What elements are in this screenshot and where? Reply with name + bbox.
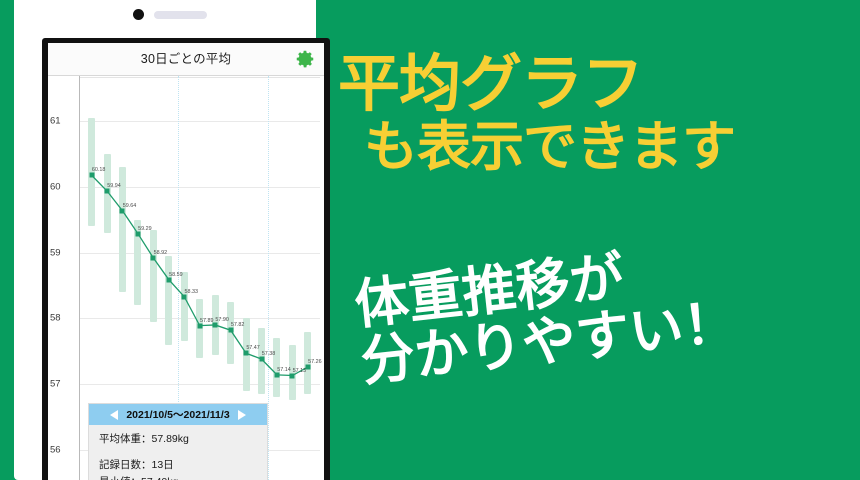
min-value: 最小値：57.40kg: [99, 474, 257, 480]
data-point-label: 57.82: [231, 322, 245, 328]
gear-icon[interactable]: [294, 48, 316, 70]
info-panel-body: 平均体重：57.89kg 記録日数：13日 最小値：57.40kg 最大値：58…: [89, 425, 267, 480]
average-weight-chart[interactable]: 616059585756 60.1859.9459.6459.2958.9258…: [48, 76, 324, 480]
average-weight-value: 平均体重：57.89kg: [99, 431, 257, 448]
data-point[interactable]: [182, 294, 187, 299]
y-axis: 616059585756: [48, 76, 79, 480]
info-panel: 2021/10/5〜2021/11/3 平均体重：57.89kg 記録日数：13…: [88, 403, 268, 480]
speaker-grill-icon: [154, 11, 207, 19]
data-point-label: 58.33: [185, 289, 199, 295]
y-axis-tick-label: 58: [50, 313, 61, 324]
data-point-label: 59.94: [107, 183, 121, 189]
data-point[interactable]: [213, 322, 218, 327]
camera-dot-icon: [133, 9, 144, 20]
data-point[interactable]: [290, 373, 295, 378]
data-point[interactable]: [89, 173, 94, 178]
data-point[interactable]: [197, 323, 202, 328]
data-point[interactable]: [120, 208, 125, 213]
y-axis-tick-label: 61: [50, 116, 61, 127]
data-point-label: 57.90: [215, 317, 229, 323]
data-point[interactable]: [228, 328, 233, 333]
promo-yellow-line1: 平均グラフ: [338, 52, 858, 115]
promo-yellow-text: 平均グラフ も表示できます: [338, 52, 858, 174]
data-point[interactable]: [305, 364, 310, 369]
data-point-label: 57.47: [246, 345, 260, 351]
promo-yellow-line2: も表示できます: [364, 119, 858, 174]
data-point[interactable]: [135, 231, 140, 236]
phone-mockup: 30日ごとの平均 616059585756 60.1859.9459.6459.…: [14, 0, 316, 480]
data-point[interactable]: [105, 189, 110, 194]
app-header: 30日ごとの平均: [48, 43, 324, 76]
data-point-label: 57.89: [200, 318, 214, 324]
promo-text-block: 平均グラフ も表示できます 体重推移が 分かりやすい！: [330, 0, 860, 480]
promo-white-text: 体重推移が 分かりやすい！: [352, 224, 860, 389]
chevron-right-icon[interactable]: [238, 410, 246, 420]
data-point-label: 58.59: [169, 272, 183, 278]
chevron-left-icon[interactable]: [110, 410, 118, 420]
screenshot-root: 30日ごとの平均 616059585756 60.1859.9459.6459.…: [0, 0, 860, 480]
data-point-label: 60.18: [92, 167, 106, 173]
y-axis-tick-label: 60: [50, 182, 61, 193]
y-axis-tick-label: 56: [50, 444, 61, 455]
y-axis-tick-label: 57: [50, 379, 61, 390]
data-point[interactable]: [259, 357, 264, 362]
record-days-value: 記録日数：13日: [99, 457, 257, 474]
phone-screen: 30日ごとの平均 616059585756 60.1859.9459.6459.…: [48, 43, 324, 480]
page-title: 30日ごとの平均: [48, 43, 324, 75]
data-point-label: 57.38: [262, 351, 276, 357]
date-navigation-bar[interactable]: 2021/10/5〜2021/11/3: [89, 404, 267, 425]
data-point[interactable]: [166, 277, 171, 282]
data-point-label: 57.14: [277, 367, 291, 373]
date-range-label: 2021/10/5〜2021/11/3: [126, 407, 229, 422]
data-point-label: 57.26: [308, 359, 322, 365]
data-point[interactable]: [274, 372, 279, 377]
info-spacer: [99, 448, 257, 457]
y-axis-tick-label: 59: [50, 247, 61, 258]
phone-top-bezel: [14, 0, 316, 38]
data-point-label: 59.29: [138, 226, 152, 232]
data-point[interactable]: [244, 351, 249, 356]
data-point-label: 58.92: [154, 250, 168, 256]
data-point-label: 59.64: [123, 203, 137, 209]
data-point[interactable]: [151, 255, 156, 260]
data-point-label: 57.13: [293, 368, 307, 374]
phone-bezel: 30日ごとの平均 616059585756 60.1859.9459.6459.…: [42, 38, 330, 480]
